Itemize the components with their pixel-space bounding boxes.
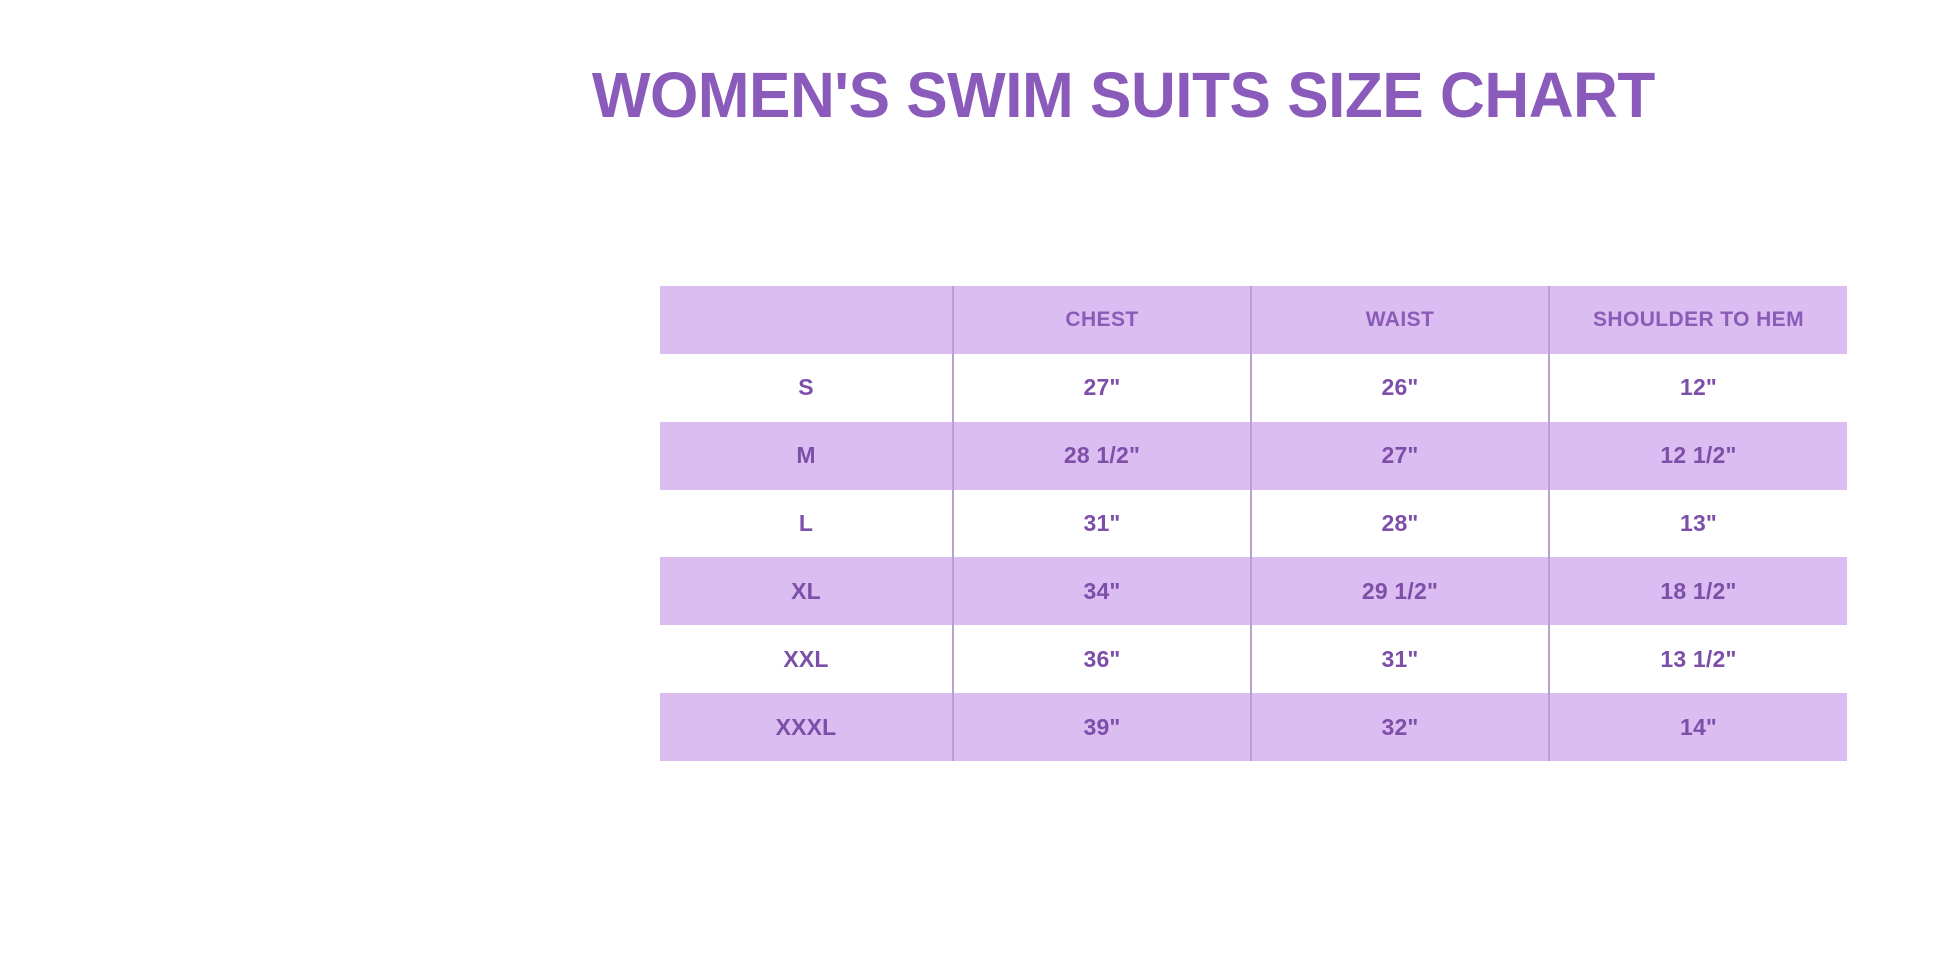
cell-chest: 39"	[953, 693, 1251, 761]
cell-shoulder-to-hem: 18 1/2"	[1549, 557, 1847, 625]
cell-size: S	[660, 354, 953, 422]
cell-chest: 31"	[953, 490, 1251, 558]
cell-chest: 28 1/2"	[953, 422, 1251, 490]
cell-size: XXXL	[660, 693, 953, 761]
column-header-shoulder-to-hem: SHOULDER TO HEM	[1549, 286, 1847, 354]
table-row: M 28 1/2" 27" 12 1/2"	[660, 422, 1847, 490]
cell-size: M	[660, 422, 953, 490]
page-title: WOMEN'S SWIM SUITS SIZE CHART	[29, 62, 1917, 129]
cell-chest: 36"	[953, 625, 1251, 693]
table-header-row: CHEST WAIST SHOULDER TO HEM	[660, 286, 1847, 354]
cell-shoulder-to-hem: 13 1/2"	[1549, 625, 1847, 693]
cell-waist: 32"	[1251, 693, 1549, 761]
cell-waist: 31"	[1251, 625, 1549, 693]
cell-waist: 26"	[1251, 354, 1549, 422]
table-row: XXL 36" 31" 13 1/2"	[660, 625, 1847, 693]
table-body: S 27" 26" 12" M 28 1/2" 27" 12 1/2" L 31…	[660, 354, 1847, 761]
cell-chest: 27"	[953, 354, 1251, 422]
size-chart-table-container: CHEST WAIST SHOULDER TO HEM S 27" 26" 12…	[660, 286, 1847, 761]
table-header: CHEST WAIST SHOULDER TO HEM	[660, 286, 1847, 354]
size-chart-page: WOMEN'S SWIM SUITS SIZE CHART CHEST WAIS…	[0, 0, 1946, 973]
column-header-size	[660, 286, 953, 354]
table-row: S 27" 26" 12"	[660, 354, 1847, 422]
cell-shoulder-to-hem: 12 1/2"	[1549, 422, 1847, 490]
cell-size: XXL	[660, 625, 953, 693]
cell-size: L	[660, 490, 953, 558]
cell-shoulder-to-hem: 14"	[1549, 693, 1847, 761]
cell-chest: 34"	[953, 557, 1251, 625]
column-header-chest: CHEST	[953, 286, 1251, 354]
cell-shoulder-to-hem: 12"	[1549, 354, 1847, 422]
size-chart-table: CHEST WAIST SHOULDER TO HEM S 27" 26" 12…	[660, 286, 1847, 761]
table-row: XL 34" 29 1/2" 18 1/2"	[660, 557, 1847, 625]
cell-waist: 29 1/2"	[1251, 557, 1549, 625]
cell-waist: 27"	[1251, 422, 1549, 490]
cell-shoulder-to-hem: 13"	[1549, 490, 1847, 558]
table-row: XXXL 39" 32" 14"	[660, 693, 1847, 761]
table-row: L 31" 28" 13"	[660, 490, 1847, 558]
cell-size: XL	[660, 557, 953, 625]
cell-waist: 28"	[1251, 490, 1549, 558]
column-header-waist: WAIST	[1251, 286, 1549, 354]
